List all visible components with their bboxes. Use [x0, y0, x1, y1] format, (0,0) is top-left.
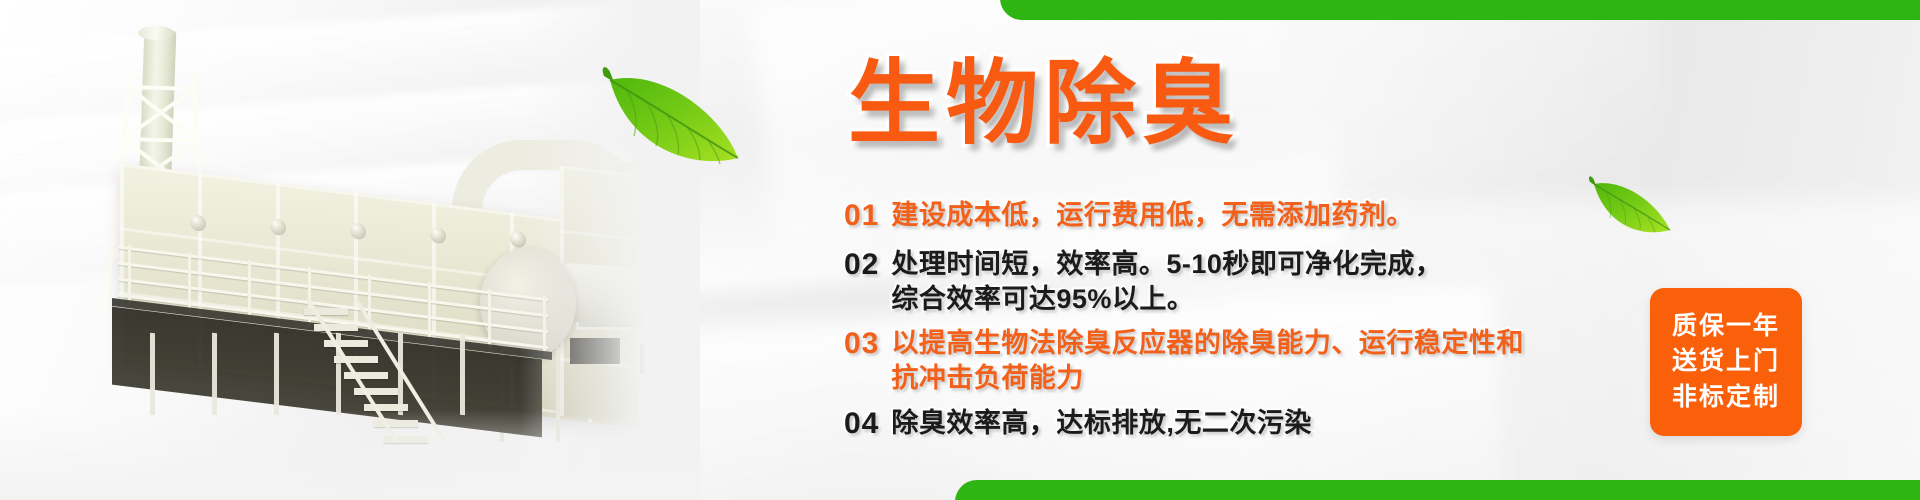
- feature-text: 处理时间短，效率高。5-10秒即可净化完成， 综合效率可达95%以上。: [891, 247, 1442, 316]
- exhaust-stack-cap: [138, 26, 174, 40]
- status-badge: 质保一年 送货上门 非标定制: [1650, 288, 1802, 436]
- feature-text: 建设成本低，运行费用低，无需添加药剂。: [891, 198, 1414, 233]
- list-item: 04 除臭效率高，达标排放,无二次污染: [844, 406, 1644, 441]
- green-bar-bottom: [955, 480, 1920, 500]
- promo-banner: 生物除臭 01 建设成本低，运行费用低，无需添加药剂。 02 处理时间短，效率高…: [0, 0, 1920, 500]
- feature-number: 04: [844, 406, 879, 441]
- feature-number: 02: [844, 247, 879, 282]
- green-bar-top: [1000, 0, 1920, 20]
- feature-list: 01 建设成本低，运行费用低，无需添加药剂。 02 处理时间短，效率高。5-10…: [844, 198, 1644, 453]
- support-leg: [150, 333, 155, 416]
- feature-number: 01: [844, 198, 879, 233]
- list-item: 03 以提高生物法除臭反应器的除臭能力、运行稳定性和 抗冲击负荷能力: [844, 326, 1644, 395]
- list-item: 01 建设成本低，运行费用低，无需添加药剂。: [844, 198, 1644, 233]
- leaf-icon: [580, 52, 750, 197]
- support-leg: [212, 333, 217, 416]
- badge-line: 质保一年: [1672, 309, 1780, 345]
- feature-number: 03: [844, 326, 879, 361]
- badge-line: 非标定制: [1672, 380, 1780, 416]
- feature-text: 除臭效率高，达标排放,无二次污染: [891, 406, 1312, 441]
- feature-text: 以提高生物法除臭反应器的除臭能力、运行稳定性和 抗冲击负荷能力: [891, 326, 1524, 395]
- photo-edge-fade: [0, 410, 700, 500]
- badge-line: 送货上门: [1672, 344, 1780, 380]
- page-title: 生物除臭: [848, 58, 1240, 150]
- support-leg: [274, 333, 279, 416]
- list-item: 02 处理时间短，效率高。5-10秒即可净化完成， 综合效率可达95%以上。: [844, 247, 1644, 316]
